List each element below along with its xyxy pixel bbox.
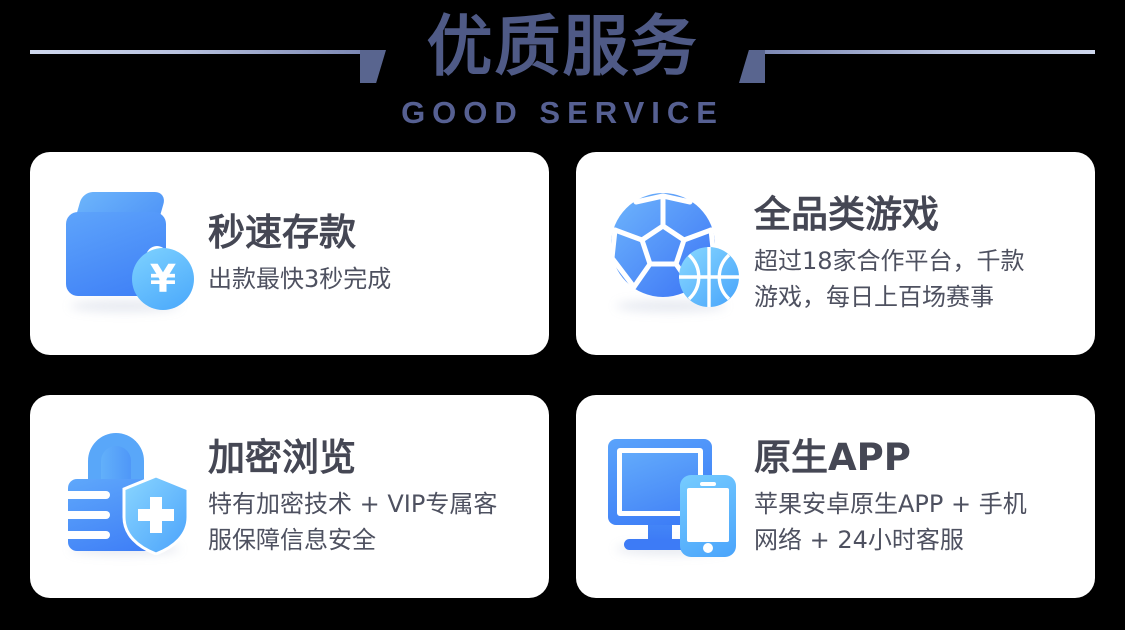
lock-stripe: [68, 511, 110, 519]
card-subtitle: 超过18家合作平台，千款 游戏，每日上百场赛事: [754, 243, 1077, 315]
lock-shield-icon: [60, 427, 200, 567]
card-text-block: 原生APP 苹果安卓原生APP + 手机 网络 + 24小时客服: [746, 436, 1077, 558]
card-subtitle: 特有加密技术 + VIP专属客 服保障信息安全: [208, 486, 531, 558]
card-text-block: 加密浏览 特有加密技术 + VIP专属客 服保障信息安全: [200, 436, 531, 558]
feature-card-deposit[interactable]: ¥ 秒速存款 出款最快3秒完成: [30, 152, 549, 355]
soccer-basketball-icon: [606, 184, 746, 324]
card-subtitle-line: 苹果安卓原生APP + 手机: [754, 486, 1077, 522]
feature-card-grid: ¥ 秒速存款 出款最快3秒完成: [30, 152, 1095, 598]
card-subtitle: 苹果安卓原生APP + 手机 网络 + 24小时客服: [754, 486, 1077, 558]
page-header: 优质服务 GOOD SERVICE: [0, 0, 1125, 150]
page-title: 优质服务: [0, 8, 1125, 86]
feature-card-encryption[interactable]: 加密浏览 特有加密技术 + VIP专属客 服保障信息安全: [30, 395, 549, 598]
card-subtitle-line: 特有加密技术 + VIP专属客: [208, 486, 531, 522]
lock-stripe: [68, 491, 110, 499]
feature-card-games[interactable]: 全品类游戏 超过18家合作平台，千款 游戏，每日上百场赛事: [576, 152, 1095, 355]
smartphone-icon: [680, 475, 736, 557]
phone-screen: [687, 488, 729, 542]
yen-coin-icon: ¥: [132, 248, 194, 310]
card-subtitle-line: 网络 + 24小时客服: [754, 522, 1077, 558]
card-subtitle-line: 服保障信息安全: [208, 522, 531, 558]
card-text-block: 秒速存款 出款最快3秒完成: [200, 211, 531, 297]
card-title: 加密浏览: [208, 436, 531, 480]
card-text-block: 全品类游戏 超过18家合作平台，千款 游戏，每日上百场赛事: [746, 193, 1077, 315]
card-title: 全品类游戏: [754, 193, 1077, 237]
card-subtitle-line: 超过18家合作平台，千款: [754, 243, 1077, 279]
monitor-phone-icon: [606, 427, 746, 567]
basketball-icon: [678, 246, 740, 308]
card-subtitle-line: 游戏，每日上百场赛事: [754, 279, 1077, 315]
phone-speaker: [700, 482, 716, 486]
lock-stripe: [68, 531, 110, 539]
card-subtitle: 出款最快3秒完成: [208, 261, 531, 297]
card-title: 原生APP: [754, 436, 1077, 480]
page-subtitle: GOOD SERVICE: [0, 95, 1125, 131]
card-title: 秒速存款: [208, 211, 531, 255]
phone-home-button: [703, 543, 713, 553]
wallet-icon: ¥: [60, 184, 200, 324]
feature-card-native-app[interactable]: 原生APP 苹果安卓原生APP + 手机 网络 + 24小时客服: [576, 395, 1095, 598]
shield-plus-icon: [122, 475, 190, 555]
card-subtitle-line: 出款最快3秒完成: [208, 261, 531, 297]
